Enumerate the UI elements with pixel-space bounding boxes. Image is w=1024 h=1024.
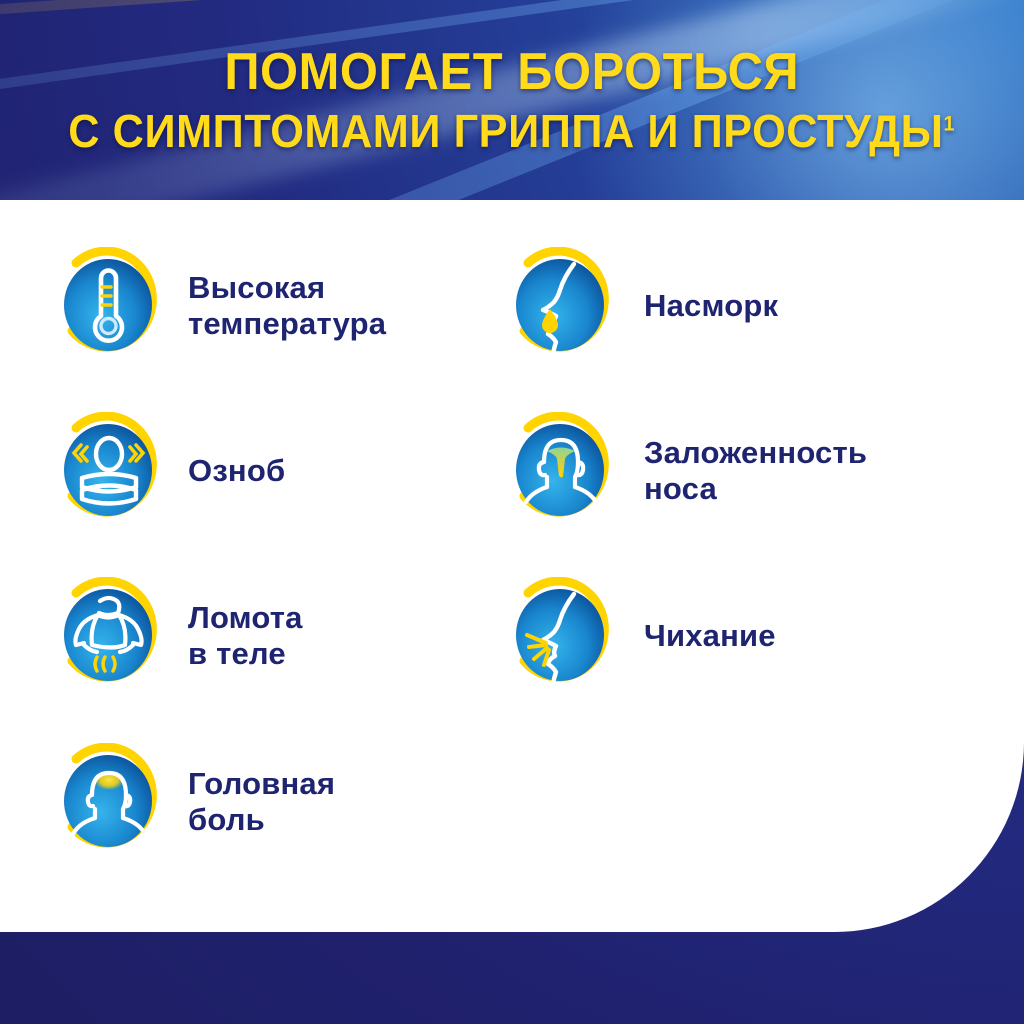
headline-line-2-text: С СИМПТОМАМИ ГРИППА И ПРОСТУДЫ	[69, 105, 944, 157]
symptom-item-sneezing: Чихание	[506, 577, 776, 695]
symptom-label: Высокая температура	[188, 270, 386, 342]
headline-line-1: ПОМОГАЕТ БОРОТЬСЯ	[225, 46, 800, 98]
headline-line-2: С СИМПТОМАМИ ГРИППА И ПРОСТУДЫ1	[69, 108, 956, 154]
headache-icon	[54, 743, 166, 861]
symptom-grid: Высокая температура	[0, 200, 1024, 932]
runny-nose-icon	[506, 247, 618, 365]
symptom-item-headache: Головная боль	[54, 743, 335, 861]
symptom-label: Насморк	[644, 288, 778, 324]
symptom-label: Чихание	[644, 618, 776, 654]
symptom-item-fever: Высокая температура	[54, 247, 386, 365]
nasal-congestion-icon	[506, 412, 618, 530]
footnote-marker: 1	[944, 113, 956, 136]
body-ache-icon	[54, 577, 166, 695]
headline-block: ПОМОГАЕТ БОРОТЬСЯ С СИМПТОМАМИ ГРИППА И …	[0, 0, 1024, 200]
symptom-label: Заложенность носа	[644, 435, 867, 507]
symptom-item-body-ache: Ломота в теле	[54, 577, 303, 695]
symptom-label: Озноб	[188, 453, 285, 489]
promo-banner: ПОМОГАЕТ БОРОТЬСЯ С СИМПТОМАМИ ГРИППА И …	[0, 0, 1024, 1024]
symptom-item-runny-nose: Насморк	[506, 247, 778, 365]
shivering-person-icon	[54, 412, 166, 530]
symptom-item-nasal-congestion: Заложенность носа	[506, 412, 867, 530]
symptom-label: Ломота в теле	[188, 600, 303, 672]
sneezing-icon	[506, 577, 618, 695]
symptom-item-chills: Озноб	[54, 412, 285, 530]
symptom-label: Головная боль	[188, 766, 335, 838]
thermometer-icon	[54, 247, 166, 365]
